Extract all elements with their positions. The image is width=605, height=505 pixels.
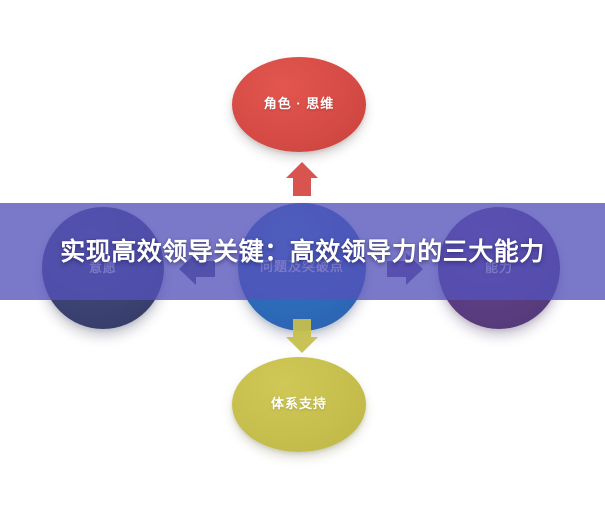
diagram-canvas: 角色 · 思维 意愿 问题及突破点 能力 体系支持 bbox=[0, 0, 605, 505]
diagram-node-role-thinking[interactable]: 角色 · 思维 bbox=[232, 57, 366, 152]
arrow-down-icon bbox=[282, 316, 322, 356]
arrow-up-icon bbox=[282, 159, 322, 199]
title-overlay-band: 实现高效领导关键：高效领导力的三大能力 bbox=[0, 203, 605, 300]
node-label: 角色 · 思维 bbox=[264, 96, 335, 112]
diagram-node-system-support[interactable]: 体系支持 bbox=[232, 357, 366, 452]
node-label: 体系支持 bbox=[271, 396, 327, 412]
page-title: 实现高效领导关键：高效领导力的三大能力 bbox=[25, 236, 580, 268]
